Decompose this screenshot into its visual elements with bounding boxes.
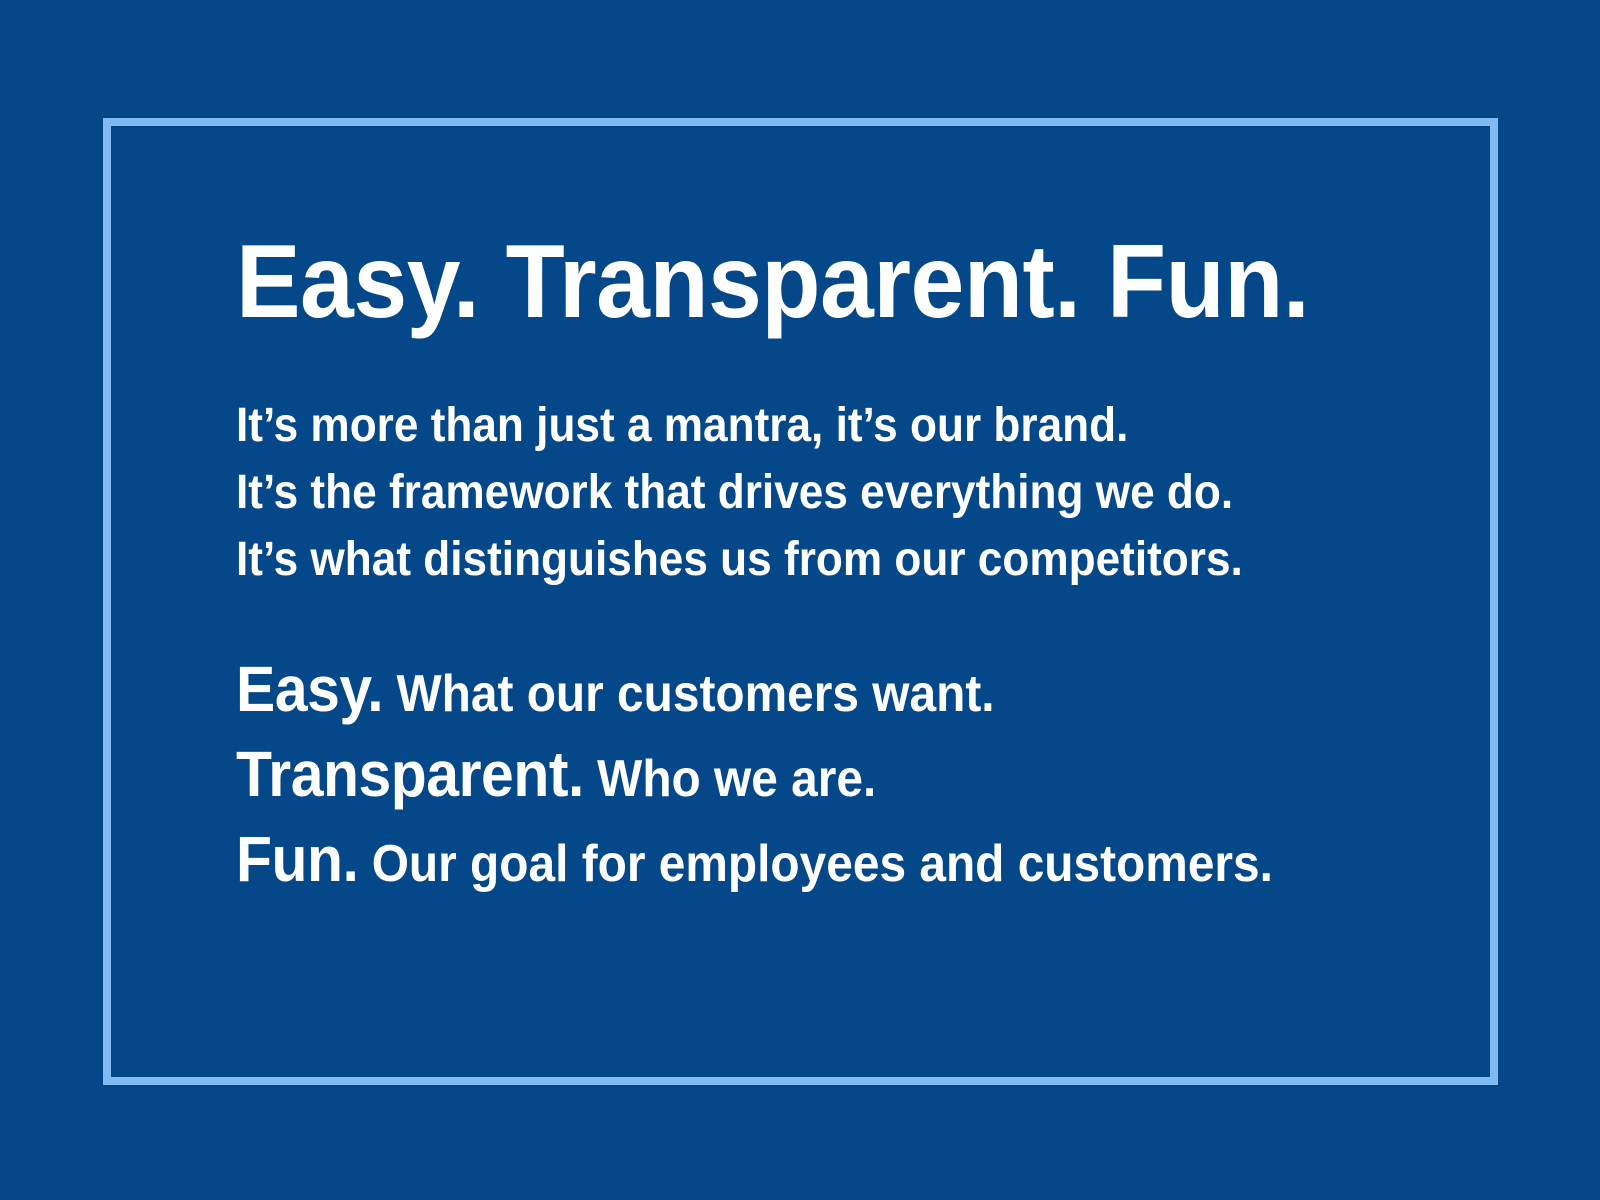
definition-term-fun: Fun. [236, 823, 358, 895]
intro-line-2: It’s the framework that drives everythin… [236, 459, 1322, 526]
definition-item-easy: Easy. What our customers want. [236, 649, 1322, 734]
definition-description-transparent: Who we are. [597, 750, 876, 808]
page-title: Easy. Transparent. Fun. [236, 230, 1333, 334]
definition-description-fun: Our goal for employees and customers. [372, 835, 1273, 893]
intro-line-3: It’s what distinguishes us from our comp… [236, 526, 1322, 593]
definition-item-fun: Fun. Our goal for employees and customer… [236, 819, 1322, 904]
definition-description-easy: What our customers want. [396, 665, 994, 723]
definitions-list: Easy. What our customers want. Transpare… [236, 649, 1322, 904]
intro-line-1: It’s more than just a mantra, it’s our b… [236, 392, 1322, 459]
slide-content: Easy. Transparent. Fun. It’s more than j… [236, 230, 1416, 904]
definition-item-transparent: Transparent. Who we are. [236, 734, 1322, 819]
intro-paragraph: It’s more than just a mantra, it’s our b… [236, 392, 1322, 593]
definition-term-transparent: Transparent. [236, 738, 584, 810]
slide-canvas: Easy. Transparent. Fun. It’s more than j… [0, 0, 1600, 1200]
definition-term-easy: Easy. [236, 653, 383, 725]
